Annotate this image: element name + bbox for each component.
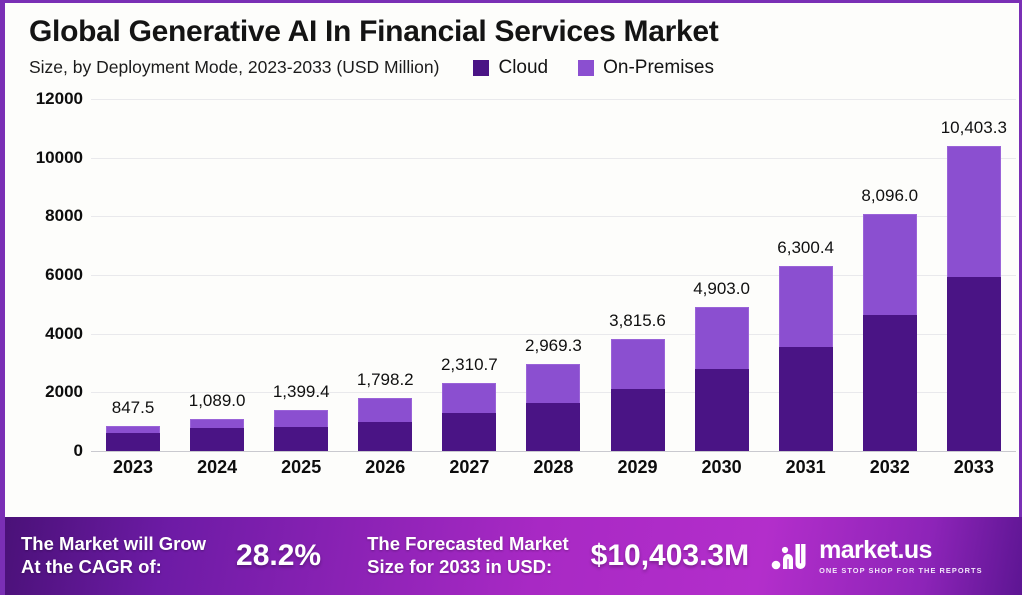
forecast-block: The Forecasted Market Size for 2033 in U… (367, 533, 749, 578)
chart-header: Global Generative AI In Financial Servic… (5, 3, 1019, 79)
chart-subtitle: Size, by Deployment Mode, 2023-2033 (USD… (29, 57, 439, 78)
bar-value-label: 10,403.3 (941, 118, 1007, 138)
bar-segment-cloud[interactable] (190, 428, 244, 451)
bar-group-2033[interactable]: 10,403.3 (937, 99, 1011, 451)
bar-group-2031[interactable]: 6,300.4 (769, 99, 843, 451)
bar-segment-cloud[interactable] (863, 315, 917, 451)
bar-value-label: 8,096.0 (861, 186, 918, 206)
bar-group-2029[interactable]: 3,815.6 (601, 99, 675, 451)
y-axis-labels: 020004000600080001000012000 (5, 99, 89, 451)
bar-segment-on-premises[interactable] (106, 426, 160, 433)
bar-segment-on-premises[interactable] (695, 307, 749, 369)
bar-segment-on-premises[interactable] (779, 266, 833, 347)
x-axis-tick-label-2023: 2023 (96, 457, 170, 478)
y-axis-tick-label: 4000 (45, 324, 83, 344)
x-axis-labels: 2023202420252026202720282029203020312032… (91, 457, 1016, 478)
x-axis-tick-label-2029: 2029 (601, 457, 675, 478)
bar-segment-on-premises[interactable] (863, 214, 917, 315)
legend-item-cloud[interactable]: Cloud (473, 57, 548, 79)
bar-segment-cloud[interactable] (106, 433, 160, 451)
bar-group-2025[interactable]: 1,399.4 (264, 99, 338, 451)
legend-label-on-premises: On-Premises (603, 57, 714, 79)
stacked-bar[interactable] (190, 419, 244, 451)
y-axis-tick-label: 6000 (45, 265, 83, 285)
bar-segment-on-premises[interactable] (190, 419, 244, 428)
y-axis-tick-label: 8000 (45, 206, 83, 226)
forecast-caption-line2: Size for 2033 in USD: (367, 556, 569, 579)
bar-group-2026[interactable]: 1,798.2 (348, 99, 422, 451)
y-axis-tick-label: 2000 (45, 382, 83, 402)
bar-segment-cloud[interactable] (611, 389, 665, 451)
bar-value-label: 1,399.4 (273, 382, 330, 402)
bar-group-2030[interactable]: 4,903.0 (685, 99, 759, 451)
stacked-bar[interactable] (947, 146, 1001, 451)
x-axis-tick-label-2026: 2026 (348, 457, 422, 478)
x-axis-tick-label-2027: 2027 (432, 457, 506, 478)
bar-series-group: 847.51,089.01,399.41,798.22,310.72,969.3… (91, 99, 1016, 451)
stacked-bar[interactable] (274, 410, 328, 451)
stacked-bar[interactable] (358, 398, 412, 451)
subtitle-legend-row: Size, by Deployment Mode, 2023-2033 (USD… (29, 57, 1019, 79)
bar-segment-on-premises[interactable] (274, 410, 328, 427)
cagr-block: The Market will Grow At the CAGR of: 28.… (21, 533, 321, 578)
bar-value-label: 3,815.6 (609, 311, 666, 331)
chart-plot-area: 020004000600080001000012000 847.51,089.0… (5, 99, 1022, 515)
bar-segment-on-premises[interactable] (947, 146, 1001, 277)
y-axis-tick-label: 10000 (36, 148, 83, 168)
x-axis-tick-label-2033: 2033 (937, 457, 1011, 478)
stacked-bar[interactable] (106, 426, 160, 451)
bar-group-2027[interactable]: 2,310.7 (432, 99, 506, 451)
bar-segment-cloud[interactable] (526, 403, 580, 451)
cagr-caption-line2: At the CAGR of: (21, 556, 206, 579)
forecast-value: $10,403.3M (591, 539, 749, 573)
bar-segment-on-premises[interactable] (442, 383, 496, 412)
bar-group-2023[interactable]: 847.5 (96, 99, 170, 451)
stacked-bar[interactable] (695, 307, 749, 451)
x-axis-tick-label-2024: 2024 (180, 457, 254, 478)
page-title: Global Generative AI In Financial Servic… (29, 15, 1019, 50)
cagr-value: 28.2% (236, 539, 321, 573)
bar-value-label: 6,300.4 (777, 238, 834, 258)
bar-value-label: 2,310.7 (441, 355, 498, 375)
square-swatch-icon (473, 60, 489, 76)
axis-baseline (91, 451, 1016, 452)
y-axis-tick-label: 12000 (36, 89, 83, 109)
stacked-bar[interactable] (611, 339, 665, 451)
logo-name: market.us (819, 538, 932, 563)
bar-group-2024[interactable]: 1,089.0 (180, 99, 254, 451)
bar-segment-cloud[interactable] (358, 422, 412, 451)
stacked-bar[interactable] (779, 266, 833, 451)
x-axis-tick-label-2030: 2030 (685, 457, 759, 478)
chart-legend: Cloud On-Premises (473, 57, 714, 79)
cagr-caption-line1: The Market will Grow (21, 533, 206, 556)
stacked-bar[interactable] (526, 364, 580, 451)
legend-label-cloud: Cloud (498, 57, 548, 79)
bar-segment-cloud[interactable] (274, 427, 328, 451)
y-axis-tick-label: 0 (74, 441, 83, 461)
bar-group-2032[interactable]: 8,096.0 (853, 99, 927, 451)
legend-item-on-premises[interactable]: On-Premises (578, 57, 714, 79)
stacked-bar[interactable] (863, 214, 917, 451)
square-swatch-icon (578, 60, 594, 76)
logo-tagline: ONE STOP SHOP FOR THE REPORTS (819, 566, 983, 575)
bar-value-label: 1,089.0 (189, 391, 246, 411)
x-axis-tick-label-2032: 2032 (853, 457, 927, 478)
bar-segment-cloud[interactable] (442, 413, 496, 451)
x-axis-tick-label-2025: 2025 (264, 457, 338, 478)
x-axis-tick-label-2028: 2028 (516, 457, 590, 478)
footer-banner: The Market will Grow At the CAGR of: 28.… (5, 517, 1022, 595)
bar-group-2028[interactable]: 2,969.3 (516, 99, 590, 451)
bar-segment-cloud[interactable] (695, 369, 749, 451)
bar-value-label: 847.5 (112, 398, 155, 418)
infographic-container: Global Generative AI In Financial Servic… (0, 0, 1022, 595)
stacked-bar[interactable] (442, 383, 496, 451)
bar-value-label: 4,903.0 (693, 279, 750, 299)
bar-value-label: 2,969.3 (525, 336, 582, 356)
bar-value-label: 1,798.2 (357, 370, 414, 390)
forecast-caption-line1: The Forecasted Market (367, 533, 569, 556)
bar-segment-on-premises[interactable] (358, 398, 412, 421)
logo-text: market.us ONE STOP SHOP FOR THE REPORTS (819, 538, 983, 575)
bar-segment-cloud[interactable] (779, 347, 833, 451)
forecast-caption: The Forecasted Market Size for 2033 in U… (367, 533, 569, 578)
market-us-logo-icon (771, 541, 811, 571)
cagr-caption: The Market will Grow At the CAGR of: (21, 533, 206, 578)
x-axis-tick-label-2031: 2031 (769, 457, 843, 478)
bar-segment-cloud[interactable] (947, 277, 1001, 451)
bar-segment-on-premises[interactable] (611, 339, 665, 388)
brand-logo[interactable]: market.us ONE STOP SHOP FOR THE REPORTS (771, 538, 983, 575)
bar-segment-on-premises[interactable] (526, 364, 580, 404)
